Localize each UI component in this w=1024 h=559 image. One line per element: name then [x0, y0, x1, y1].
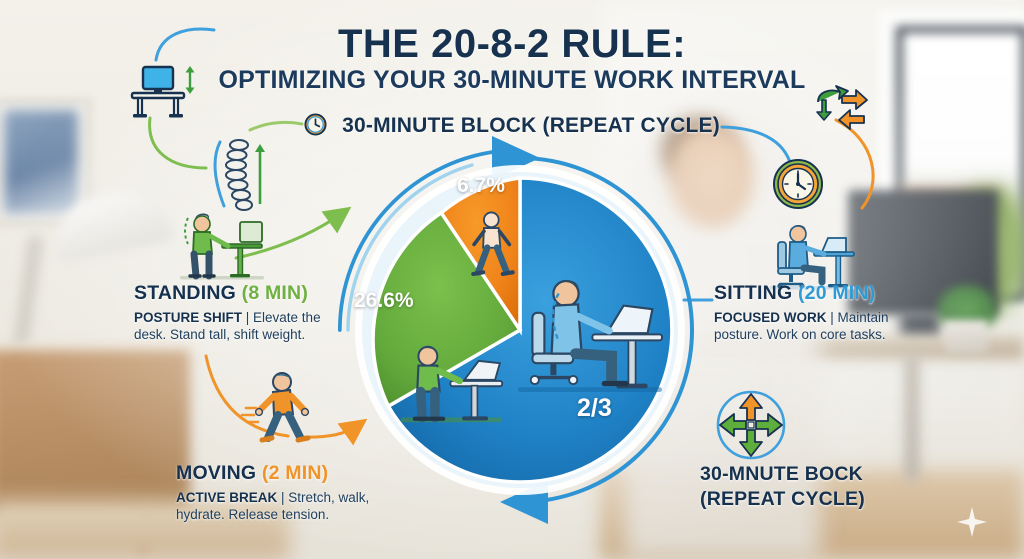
callout-sitting-name: SITTING — [714, 282, 792, 304]
callout-sitting: SITTING (20 MIN) FOCUSED WORK | Maintain… — [714, 282, 919, 343]
work-interval-pie-chart: 26.6% 6.7% 2/3 — [322, 132, 718, 528]
callout-moving-body: ACTIVE BREAK | Stretch, walk, hydrate. R… — [176, 490, 381, 523]
analog-clock-icon — [772, 158, 824, 215]
standing-desk-person-icon — [176, 208, 268, 287]
callout-moving-sep: | — [277, 490, 288, 505]
callout-sitting-minutes: (20 MIN) — [798, 282, 875, 304]
callout-moving: MOVING (2 MIN) ACTIVE BREAK | Stretch, w… — [176, 462, 381, 523]
pie-label-sitting: 2/3 — [577, 394, 612, 423]
page-title: THE 20-8-2 RULE: — [0, 22, 1024, 67]
callout-moving-heading: MOVING (2 MIN) — [176, 462, 381, 485]
callout-moving-lead: ACTIVE BREAK — [176, 490, 277, 505]
callout-standing-name: STANDING — [134, 282, 236, 304]
callout-standing-lead: POSTURE SHIFT — [134, 310, 242, 325]
callout-sitting-body: FOCUSED WORK | Maintain posture. Work on… — [714, 310, 919, 343]
callout-moving-name: MOVING — [176, 462, 256, 484]
walking-person-icon — [240, 368, 320, 453]
callout-sitting-sep: | — [827, 310, 838, 325]
callout-standing-sep: | — [242, 310, 253, 325]
callout-standing-heading: STANDING (8 MIN) — [134, 282, 339, 305]
callout-sitting-lead: FOCUSED WORK — [714, 310, 827, 325]
callout-repeat-cycle: 30-MNUTE BOCK (REPEAT CYCLE) — [700, 462, 865, 512]
callout-cycle-line2: (REPEAT CYCLE) — [700, 487, 865, 512]
callout-standing: STANDING (8 MIN) POSTURE SHIFT | Elevate… — [134, 282, 339, 343]
spine-posture-icon — [208, 136, 270, 219]
adjustable-desk-icon — [128, 63, 200, 124]
callout-cycle-line1: 30-MNUTE BOCK — [700, 462, 865, 487]
recycle-arrows-icon — [812, 84, 870, 139]
callout-moving-minutes: (2 MIN) — [262, 462, 328, 484]
infographic-canvas: THE 20-8-2 RULE: OPTIMIZING YOUR 30-MINU… — [0, 0, 1024, 559]
callout-cycle-heading: 30-MNUTE BOCK (REPEAT CYCLE) — [700, 462, 865, 512]
callout-standing-body: POSTURE SHIFT | Elevate the desk. Stand … — [134, 310, 339, 343]
pie-label-moving: 6.7% — [457, 174, 505, 198]
callout-sitting-heading: SITTING (20 MIN) — [714, 282, 919, 305]
pie-label-standing: 26.6% — [354, 289, 414, 313]
callout-standing-minutes: (8 MIN) — [242, 282, 308, 304]
four-way-arrows-icon — [712, 386, 790, 469]
